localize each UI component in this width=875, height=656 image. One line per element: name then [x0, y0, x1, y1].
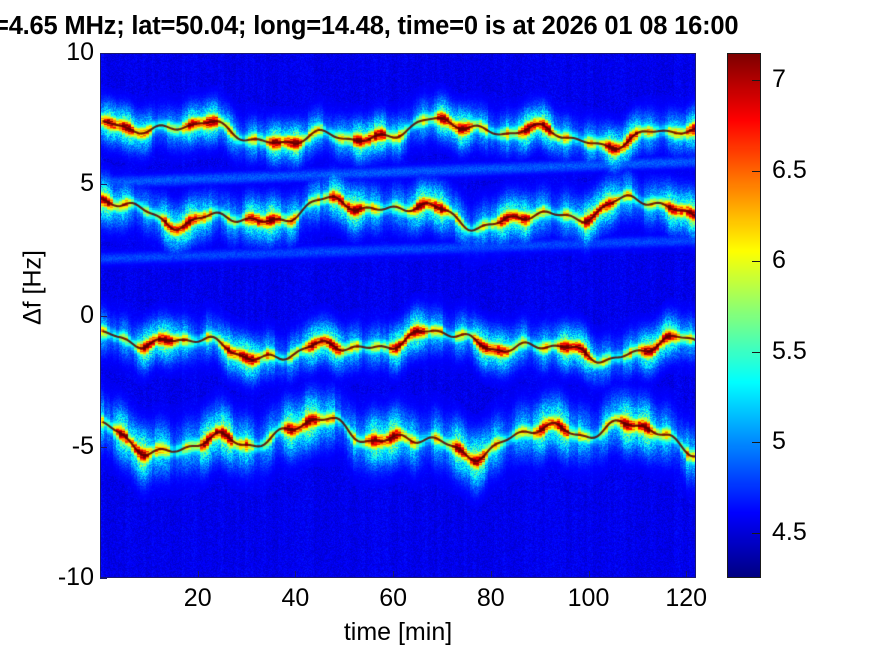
y-axis-tick-label: -5	[72, 434, 94, 459]
colorbar-tick-mark	[752, 80, 760, 81]
x-axis-tick-label: 120	[626, 586, 746, 611]
x-axis-tick-mark	[198, 571, 199, 578]
y-axis-label: Δf [Hz]	[21, 193, 46, 383]
y-axis-tick-label: 0	[80, 303, 94, 328]
colorbar-tick-label: 5.5	[772, 339, 807, 364]
colorbar-tick-label: 6	[772, 248, 786, 273]
x-axis-tick-mark	[393, 571, 394, 578]
colorbar-tick-mark	[752, 442, 760, 443]
colorbar-tick-mark	[752, 352, 760, 353]
x-axis-tick-mark	[686, 571, 687, 578]
colorbar-tick-mark	[752, 171, 760, 172]
colorbar-tick-mark	[752, 533, 760, 534]
y-axis-tick-label: -10	[58, 565, 94, 590]
y-axis-tick-mark	[100, 578, 107, 579]
colorbar-gradient	[728, 54, 761, 578]
colorbar-tick-mark	[752, 261, 760, 262]
y-axis-tick-mark	[100, 316, 107, 317]
spectrogram-axes[interactable]	[100, 53, 696, 578]
colorbar-tick-label: 4.5	[772, 520, 807, 545]
x-axis-label: time [min]	[100, 620, 696, 645]
colorbar-tick-label: 7	[772, 67, 786, 92]
colorbar-tick-label: 6.5	[772, 158, 807, 183]
figure-title: =4.65 MHz; lat=50.04; long=14.48, time=0…	[0, 9, 875, 43]
y-axis-tick-mark	[100, 184, 107, 185]
colorbar-tick-label: 5	[772, 429, 786, 454]
x-axis-tick-mark	[589, 571, 590, 578]
matlab-figure: =4.65 MHz; lat=50.04; long=14.48, time=0…	[0, 0, 875, 656]
spectrogram-image	[101, 54, 696, 578]
y-axis-tick-mark	[100, 447, 107, 448]
x-axis-tick-mark	[491, 571, 492, 578]
colorbar[interactable]	[727, 53, 761, 578]
y-axis-tick-label: 5	[80, 171, 94, 196]
y-axis-tick-label: 10	[66, 40, 94, 65]
y-axis-tick-mark	[100, 53, 107, 54]
x-axis-tick-mark	[295, 571, 296, 578]
